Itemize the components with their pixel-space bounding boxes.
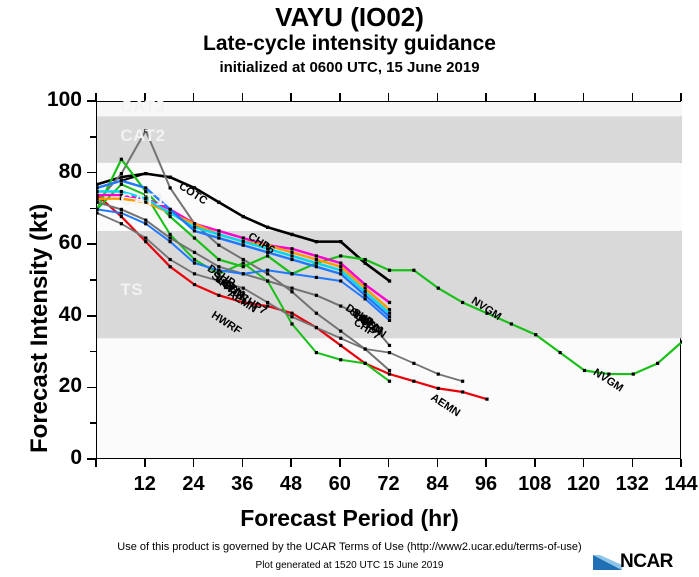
data-point xyxy=(144,240,147,243)
y-tick-label: 60 xyxy=(24,231,82,255)
data-point xyxy=(169,215,172,218)
data-point xyxy=(437,387,440,390)
data-point xyxy=(632,372,635,375)
data-point xyxy=(315,254,318,257)
data-point xyxy=(461,380,464,383)
data-point xyxy=(290,233,293,236)
data-point xyxy=(339,269,342,272)
data-point xyxy=(339,262,342,265)
x-tick-mark xyxy=(680,459,682,467)
data-point xyxy=(534,333,537,336)
y-minor-tick-mark xyxy=(90,136,96,138)
data-point xyxy=(266,279,269,282)
data-point xyxy=(242,215,245,218)
data-point xyxy=(412,269,415,272)
data-point xyxy=(120,190,123,193)
data-point xyxy=(242,240,245,243)
ncar-wordmark: NCAR xyxy=(620,551,673,573)
x-tick-mark xyxy=(290,93,292,101)
x-tick-label: 96 xyxy=(463,473,509,496)
y-tick-mark xyxy=(87,315,96,317)
x-tick-label: 84 xyxy=(414,473,460,496)
data-point xyxy=(315,312,318,315)
data-point xyxy=(217,229,220,232)
data-point xyxy=(315,276,318,279)
data-point xyxy=(120,211,123,214)
x-tick-label: 24 xyxy=(171,473,217,496)
data-point xyxy=(242,236,245,239)
data-point xyxy=(242,244,245,247)
x-tick-mark xyxy=(632,93,634,101)
data-point xyxy=(242,262,245,265)
data-point xyxy=(412,362,415,365)
data-point xyxy=(364,258,367,261)
data-point xyxy=(266,269,269,272)
data-point xyxy=(217,233,220,236)
x-tick-mark xyxy=(144,93,146,101)
data-point xyxy=(583,369,586,372)
data-point xyxy=(144,197,147,200)
data-point xyxy=(266,226,269,229)
data-point xyxy=(510,322,513,325)
data-point xyxy=(388,279,391,282)
y-tick-mark xyxy=(87,100,96,102)
data-point xyxy=(339,358,342,361)
y-tick-label: 80 xyxy=(24,160,82,184)
x-tick-label: 120 xyxy=(561,473,607,496)
data-point xyxy=(193,229,196,232)
x-tick-mark xyxy=(388,459,390,467)
x-tick-mark xyxy=(388,93,390,101)
x-tick-label: 12 xyxy=(122,473,168,496)
data-point xyxy=(97,186,99,189)
y-tick-mark xyxy=(87,387,96,389)
x-tick-mark xyxy=(242,459,244,467)
data-point xyxy=(680,340,682,343)
data-point xyxy=(169,265,172,268)
data-point xyxy=(364,297,367,300)
x-tick-mark xyxy=(193,93,195,101)
x-tick-mark xyxy=(485,93,487,101)
data-point xyxy=(388,380,391,383)
data-point xyxy=(339,304,342,307)
data-point xyxy=(339,344,342,347)
x-tick-mark xyxy=(339,93,341,101)
data-point xyxy=(315,240,318,243)
data-point xyxy=(97,201,99,204)
data-point xyxy=(144,193,147,196)
x-tick-label: 144 xyxy=(658,473,699,496)
x-axis-label: Forecast Period (hr) xyxy=(0,505,699,532)
x-tick-mark xyxy=(583,459,585,467)
x-tick-mark xyxy=(144,459,146,467)
data-point xyxy=(97,193,99,196)
data-point xyxy=(193,258,196,261)
data-point xyxy=(315,294,318,297)
data-point xyxy=(437,372,440,375)
data-point xyxy=(290,315,293,318)
x-tick-mark xyxy=(437,93,439,101)
data-point xyxy=(364,362,367,365)
data-point xyxy=(120,197,123,200)
data-point xyxy=(144,236,147,239)
data-point xyxy=(217,258,220,261)
y-tick-label: 20 xyxy=(24,374,82,398)
data-point xyxy=(315,351,318,354)
x-tick-mark xyxy=(193,459,195,467)
data-point xyxy=(97,211,99,214)
chart-init-time: initialized at 0600 UTC, 15 June 2019 xyxy=(0,59,699,76)
y-tick-mark xyxy=(87,172,96,174)
data-point xyxy=(144,219,147,222)
data-point xyxy=(388,301,391,304)
chart-page: VAYU (IO02) Late-cycle intensity guidanc… xyxy=(0,0,699,577)
series-inline-label: AEMN xyxy=(428,392,462,420)
data-point xyxy=(193,236,196,239)
data-point xyxy=(339,254,342,257)
data-point xyxy=(339,337,342,340)
data-point xyxy=(217,244,220,247)
data-point xyxy=(461,390,464,393)
x-tick-mark xyxy=(339,459,341,467)
data-point xyxy=(290,254,293,257)
data-point xyxy=(290,251,293,254)
x-tick-label: 36 xyxy=(219,473,265,496)
data-point xyxy=(97,190,99,193)
data-point xyxy=(315,326,318,329)
data-point xyxy=(120,208,123,211)
x-tick-label: 60 xyxy=(317,473,363,496)
page-title: VAYU (IO02) xyxy=(0,2,699,33)
x-tick-label: 48 xyxy=(268,473,314,496)
data-point xyxy=(193,251,196,254)
data-point xyxy=(144,186,147,189)
data-point xyxy=(290,287,293,290)
x-tick-label: 132 xyxy=(609,473,655,496)
data-point xyxy=(193,222,196,225)
data-point xyxy=(144,172,147,175)
data-point xyxy=(242,272,245,275)
data-point xyxy=(193,272,196,275)
x-tick-mark xyxy=(290,459,292,467)
data-point xyxy=(266,272,269,275)
data-point xyxy=(144,129,147,132)
data-point xyxy=(120,215,123,218)
data-point xyxy=(315,265,318,268)
x-tick-mark xyxy=(242,93,244,101)
data-point xyxy=(97,208,99,211)
series-inline-label: NVGM xyxy=(591,367,625,395)
data-point xyxy=(169,258,172,261)
data-point xyxy=(559,351,562,354)
data-point xyxy=(120,158,123,161)
data-point xyxy=(169,233,172,236)
data-point xyxy=(290,272,293,275)
data-point xyxy=(290,247,293,250)
data-point xyxy=(120,183,123,186)
y-tick-mark xyxy=(87,458,96,460)
y-tick-label: 100 xyxy=(24,88,82,112)
chart-subtitle: Late-cycle intensity guidance xyxy=(0,32,699,56)
data-point xyxy=(339,272,342,275)
data-point xyxy=(97,183,99,186)
data-point xyxy=(193,262,196,265)
data-point xyxy=(217,236,220,239)
data-point xyxy=(388,269,391,272)
data-point xyxy=(120,172,123,175)
chart-canvas: CHP6COTCNVGMNVGMAEMNAEMNHWRFCHP7CHP7DSHP… xyxy=(97,102,682,460)
data-point xyxy=(217,294,220,297)
data-point xyxy=(144,222,147,225)
data-point xyxy=(144,201,147,204)
data-point xyxy=(656,362,659,365)
y-tick-label: 40 xyxy=(24,303,82,327)
x-tick-mark xyxy=(632,459,634,467)
x-tick-mark xyxy=(485,459,487,467)
data-point xyxy=(388,369,391,372)
x-tick-label: 72 xyxy=(366,473,412,496)
x-tick-mark xyxy=(95,459,97,467)
plot-area: CHP6COTCNVGMNVGMAEMNAEMNHWRFCHP7CHP7DSHP… xyxy=(96,101,681,459)
data-point xyxy=(169,176,172,179)
data-point xyxy=(120,179,123,182)
y-minor-tick-mark xyxy=(90,208,96,210)
data-point xyxy=(388,319,391,322)
data-point xyxy=(388,315,391,318)
data-point xyxy=(485,398,488,401)
y-tick-label: 0 xyxy=(24,446,82,470)
data-point xyxy=(290,312,293,315)
x-tick-mark xyxy=(534,93,536,101)
data-point xyxy=(388,351,391,354)
data-point xyxy=(169,186,172,189)
x-tick-label: 108 xyxy=(512,473,558,496)
data-point xyxy=(290,258,293,261)
data-point xyxy=(339,240,342,243)
data-point xyxy=(388,372,391,375)
data-point xyxy=(364,294,367,297)
data-point xyxy=(339,265,342,268)
data-point xyxy=(120,222,123,225)
data-point xyxy=(169,236,172,239)
data-point xyxy=(290,322,293,325)
x-tick-mark xyxy=(583,93,585,101)
data-point xyxy=(315,262,318,265)
band-cat3 xyxy=(97,102,682,116)
band-cat2 xyxy=(97,116,682,163)
data-point xyxy=(437,287,440,290)
data-point xyxy=(120,193,123,196)
data-point xyxy=(364,347,367,350)
x-tick-mark xyxy=(534,459,536,467)
data-point xyxy=(217,201,220,204)
y-minor-tick-mark xyxy=(90,422,96,424)
data-point xyxy=(290,290,293,293)
x-tick-mark xyxy=(680,93,682,101)
data-point xyxy=(193,283,196,286)
data-point xyxy=(242,265,245,268)
y-tick-mark xyxy=(87,243,96,245)
data-point xyxy=(242,258,245,261)
data-point xyxy=(169,208,172,211)
x-tick-mark xyxy=(437,459,439,467)
data-point xyxy=(364,262,367,265)
data-point xyxy=(412,380,415,383)
data-point xyxy=(339,279,342,282)
data-point xyxy=(315,258,318,261)
data-point xyxy=(388,344,391,347)
data-point xyxy=(339,330,342,333)
data-point xyxy=(461,301,464,304)
data-point xyxy=(266,301,269,304)
data-point xyxy=(169,240,172,243)
y-minor-tick-mark xyxy=(90,351,96,353)
y-minor-tick-mark xyxy=(90,279,96,281)
data-point xyxy=(97,197,99,200)
